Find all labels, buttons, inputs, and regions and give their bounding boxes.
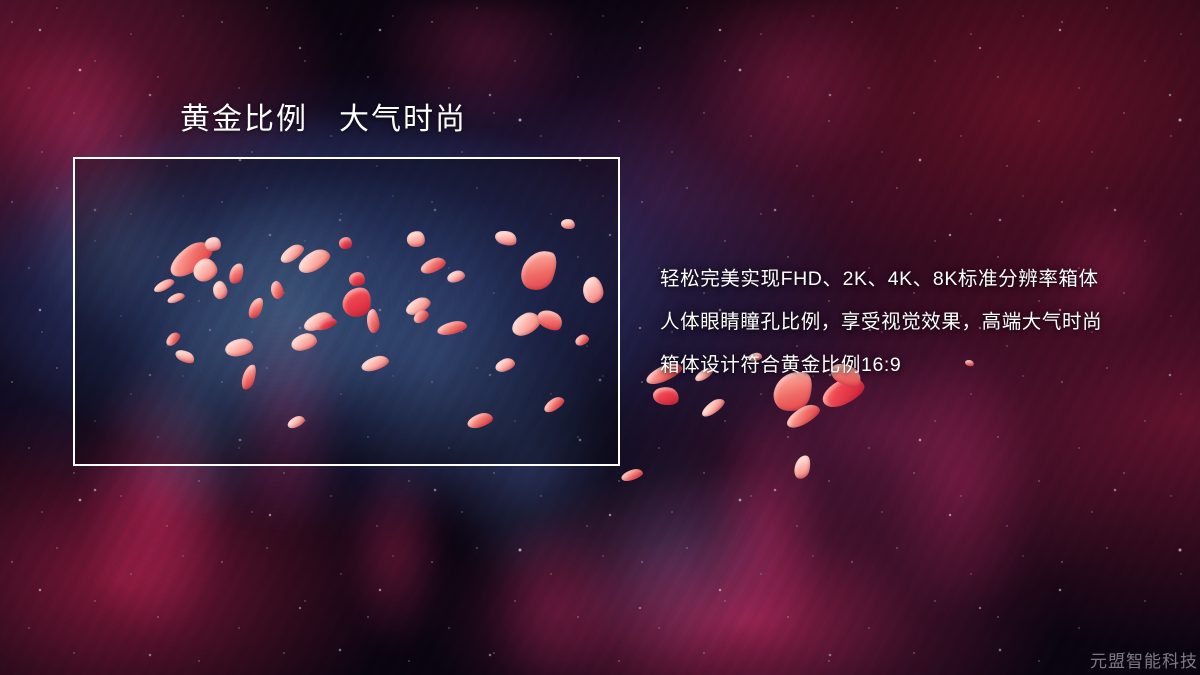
petal	[699, 396, 727, 420]
body-copy: 轻松完美实现FHD、2K、4K、8K标准分辨率箱体 人体眼睛瞳孔比例，享受视觉效…	[660, 258, 1160, 387]
petal	[651, 384, 680, 407]
slide-canvas: 黄金比例 大气时尚 轻松完美实现FHD、2K、4K、8K标准分辨率箱体 人体眼睛…	[0, 0, 1200, 675]
body-line-2: 人体眼睛瞳孔比例，享受视觉效果，高端大气时尚	[660, 301, 1160, 344]
petal	[620, 467, 644, 483]
petal	[792, 454, 812, 481]
petal	[783, 400, 822, 431]
page-title: 黄金比例 大气时尚	[180, 102, 467, 138]
body-line-3: 箱体设计符合黄金比例16:9	[660, 344, 1160, 387]
body-line-1: 轻松完美实现FHD、2K、4K、8K标准分辨率箱体	[660, 258, 1160, 301]
watermark: 元盟智能科技	[1090, 652, 1198, 672]
image-frame	[73, 157, 620, 466]
image-frame-tint	[75, 159, 618, 464]
